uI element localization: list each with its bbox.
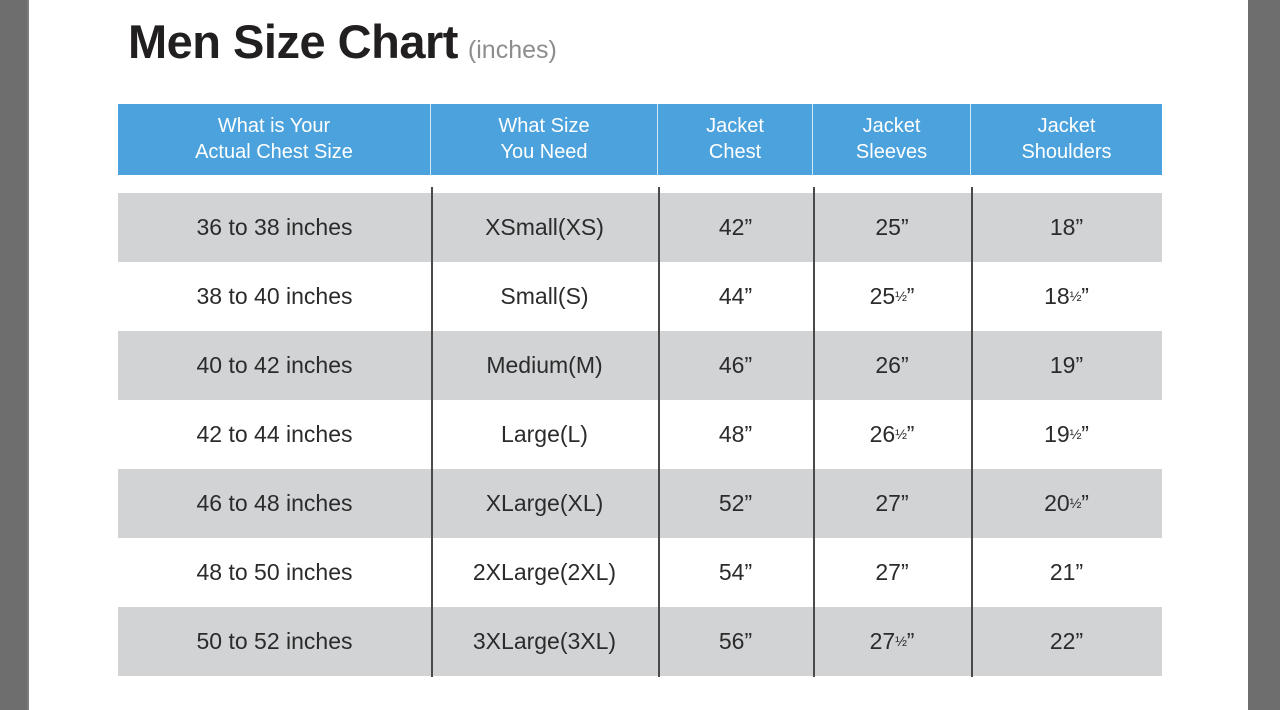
column-header-line1: Jacket [706,114,764,140]
cell-jacket-shoulders: 21” [971,538,1162,607]
column-header-line2: Sleeves [856,140,927,166]
cell-jacket-chest: 56” [658,607,813,676]
cell-jacket-chest: 54” [658,538,813,607]
cell-jacket-shoulders: 22” [971,607,1162,676]
cell-jacket-sleeves: 25” [813,193,971,262]
cell-chest-range: 40 to 42 inches [118,331,431,400]
column-header-line1: What is Your [218,114,330,140]
page-title: Men Size Chart (inches) [128,18,557,65]
chart-page: Men Size Chart (inches) What is Your Act… [29,0,1248,710]
column-header-line1: Jacket [1038,114,1096,140]
cell-size: XLarge(XL) [431,469,658,538]
cell-jacket-sleeves: 26½” [813,400,971,469]
cell-size: XSmall(XS) [431,193,658,262]
cell-size: Small(S) [431,262,658,331]
cell-jacket-shoulders: 18” [971,193,1162,262]
size-chart-screen: Men Size Chart (inches) What is Your Act… [0,0,1280,710]
half-fraction-glyph: ½ [1070,289,1082,305]
cell-jacket-shoulders: 20½” [971,469,1162,538]
column-header-line1: What Size [498,114,589,140]
cell-jacket-chest: 48” [658,400,813,469]
cell-jacket-sleeves: 25½” [813,262,971,331]
column-header-jacket-shoulders: Jacket Shoulders [971,104,1162,175]
page-title-unit: (inches) [468,38,557,63]
half-fraction-glyph: ½ [895,289,907,305]
cell-jacket-shoulders: 18½” [971,262,1162,331]
cell-jacket-shoulders: 19” [971,331,1162,400]
table-row: 50 to 52 inches3XLarge(3XL)56”27½”22” [118,607,1162,676]
cell-jacket-sleeves: 27½” [813,607,971,676]
table-body: 36 to 38 inchesXSmall(XS)42”25”18”38 to … [118,193,1162,676]
column-header-line2: Chest [709,140,761,166]
cell-chest-range: 46 to 48 inches [118,469,431,538]
cell-chest-range: 42 to 44 inches [118,400,431,469]
cell-chest-range: 50 to 52 inches [118,607,431,676]
header-body-gap [118,175,1162,193]
table-header-row: What is Your Actual Chest Size What Size… [118,104,1162,175]
half-fraction-glyph: ½ [895,634,907,650]
table-row: 38 to 40 inchesSmall(S)44”25½”18½” [118,262,1162,331]
cell-jacket-sleeves: 27” [813,469,971,538]
cell-size: 2XLarge(2XL) [431,538,658,607]
table-row: 48 to 50 inches2XLarge(2XL)54”27”21” [118,538,1162,607]
size-chart-table: What is Your Actual Chest Size What Size… [118,104,1162,676]
cell-jacket-sleeves: 26” [813,331,971,400]
table-row: 42 to 44 inchesLarge(L)48”26½”19½” [118,400,1162,469]
cell-chest-range: 36 to 38 inches [118,193,431,262]
column-header-jacket-sleeves: Jacket Sleeves [813,104,971,175]
cell-size: Medium(M) [431,331,658,400]
cell-jacket-chest: 46” [658,331,813,400]
column-header-jacket-chest: Jacket Chest [658,104,813,175]
cell-jacket-chest: 42” [658,193,813,262]
column-header-line2: Shoulders [1021,140,1111,166]
table-row: 40 to 42 inchesMedium(M)46”26”19” [118,331,1162,400]
table-row: 36 to 38 inchesXSmall(XS)42”25”18” [118,193,1162,262]
letterbox-band-right [1248,0,1280,710]
column-header-line2: Actual Chest Size [195,140,353,166]
column-header-line2: You Need [500,140,587,166]
cell-size: 3XLarge(3XL) [431,607,658,676]
cell-size: Large(L) [431,400,658,469]
cell-jacket-chest: 44” [658,262,813,331]
column-header-line1: Jacket [863,114,921,140]
letterbox-band-left [0,0,29,710]
cell-chest-range: 38 to 40 inches [118,262,431,331]
cell-chest-range: 48 to 50 inches [118,538,431,607]
half-fraction-glyph: ½ [895,427,907,443]
cell-jacket-sleeves: 27” [813,538,971,607]
column-header-actual-chest-size: What is Your Actual Chest Size [118,104,431,175]
cell-jacket-shoulders: 19½” [971,400,1162,469]
half-fraction-glyph: ½ [1070,496,1082,512]
table-row: 46 to 48 inchesXLarge(XL)52”27”20½” [118,469,1162,538]
cell-jacket-chest: 52” [658,469,813,538]
page-title-main: Men Size Chart [128,18,458,65]
column-header-size-you-need: What Size You Need [431,104,658,175]
half-fraction-glyph: ½ [1070,427,1082,443]
